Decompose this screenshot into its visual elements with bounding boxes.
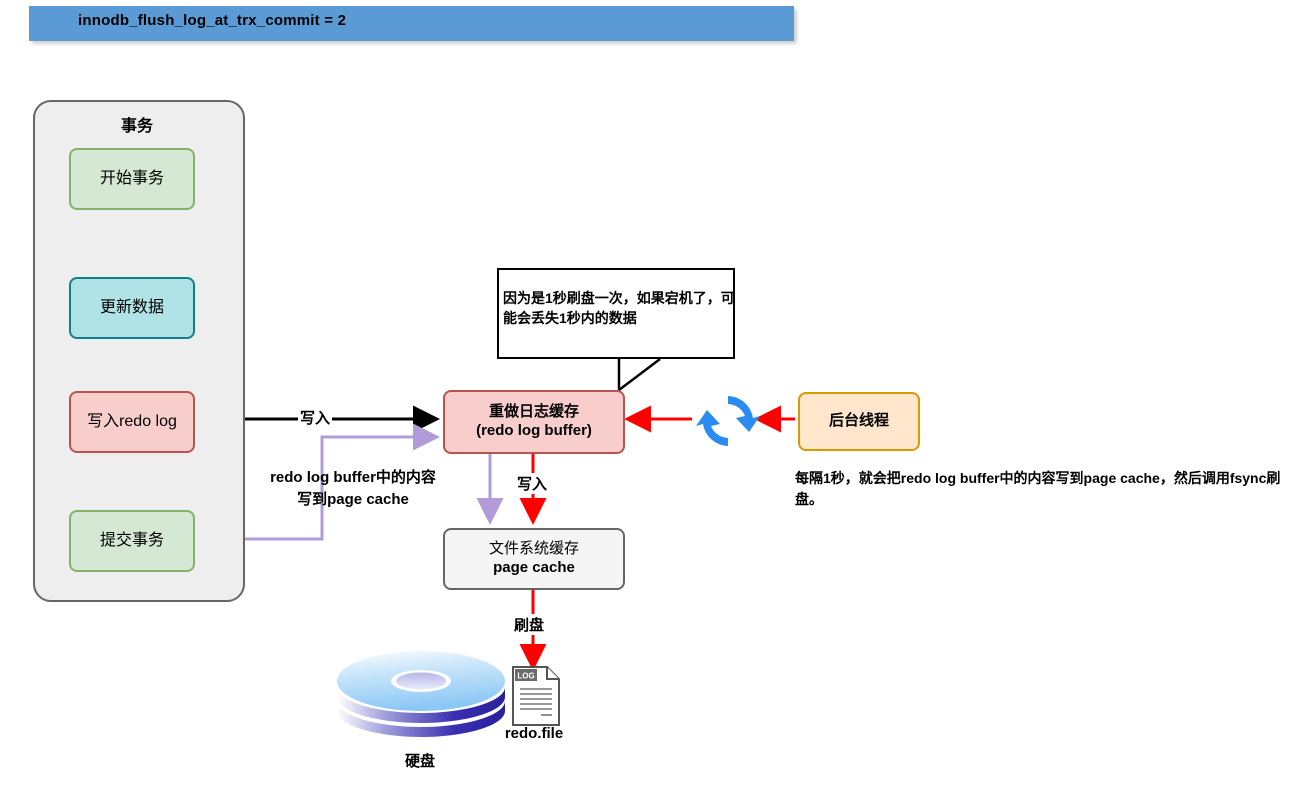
redo-log-buffer-line1: 重做日志缓存 <box>476 403 592 422</box>
node-begin-transaction[interactable]: 开始事务 <box>69 148 195 210</box>
page-cache-line2: page cache <box>489 559 579 578</box>
diagram-canvas: innodb_flush_log_at_trx_commit = 2 事务 开始… <box>0 0 1292 792</box>
transaction-title: 事务 <box>33 112 241 136</box>
callout-text: 因为是1秒刷盘一次，如果宕机了，可能会丢失1秒内的数据 <box>503 288 735 329</box>
node-redo-log-buffer[interactable]: 重做日志缓存 (redo log buffer) <box>443 390 625 454</box>
header-banner-label: innodb_flush_log_at_trx_commit = 2 <box>78 12 346 29</box>
node-update-data[interactable]: 更新数据 <box>69 277 195 339</box>
edge-label-write-black: 写入 <box>298 407 332 428</box>
node-page-cache[interactable]: 文件系统缓存 page cache <box>443 528 625 590</box>
edge-label-flush: 刷盘 <box>512 614 546 635</box>
edge-label-write-red: 写入 <box>515 473 549 494</box>
edge-label-purple-note: redo log buffer中的内容 写到page cache <box>249 467 457 511</box>
node-commit-transaction[interactable]: 提交事务 <box>69 510 195 572</box>
background-thread-description: 每隔1秒，就会把redo log buffer中的内容写到page cache，… <box>795 468 1290 510</box>
redo-log-buffer-line2: (redo log buffer) <box>476 422 592 441</box>
node-write-redo-log[interactable]: 写入redo log <box>69 391 195 453</box>
hard-disk-label: 硬盘 <box>365 750 475 771</box>
purple-note-line1: redo log buffer中的内容 <box>249 467 457 489</box>
redo-file-label: redo.file <box>479 725 589 742</box>
callout-tail <box>619 359 660 390</box>
svg-text:LOG: LOG <box>517 672 534 681</box>
log-file-icon: LOG <box>507 665 565 727</box>
node-background-thread[interactable]: 后台线程 <box>798 392 920 451</box>
page-cache-line1: 文件系统缓存 <box>489 540 579 559</box>
refresh-cycle-icon <box>692 388 764 454</box>
purple-note-line2: 写到page cache <box>249 489 457 511</box>
